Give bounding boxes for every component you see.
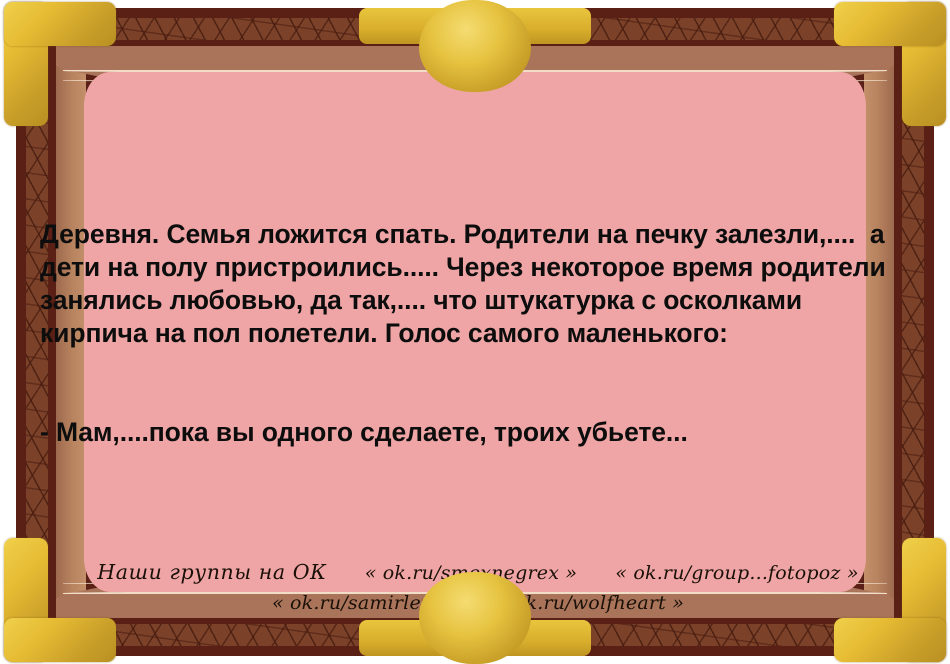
gold-dome-bottom-icon [359, 598, 591, 656]
footer-link-fotopoz[interactable]: « ok.ru/group...fotopoz » [615, 562, 858, 584]
joke-text-block: Деревня. Семья ложится спать. Родители н… [40, 152, 916, 515]
joke-punchline: - Мам,....пока вы одного сделаете, троих… [40, 416, 916, 449]
joke-card: Деревня. Семья ложится спать. Родители н… [0, 0, 950, 664]
gold-dome-bulb [419, 572, 531, 664]
footer-label: Наши группы на ОК [97, 560, 326, 584]
gold-dome-bulb [419, 0, 531, 92]
joke-body: Деревня. Семья ложится спать. Родители н… [40, 218, 916, 350]
gold-dome-top-icon [359, 8, 591, 66]
